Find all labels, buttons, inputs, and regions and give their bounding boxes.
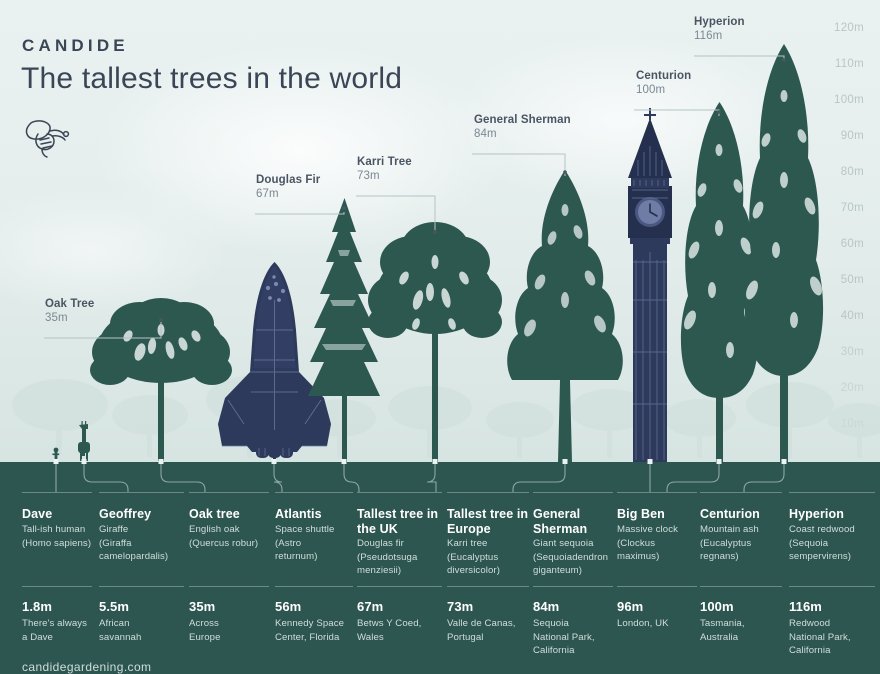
legend-item-description: Giraffe (Giraffa camelopardalis): [99, 523, 184, 564]
figure-dave-human: [52, 448, 59, 461]
legend-item-name: Hyperion: [789, 507, 875, 522]
legend-item-location: There's always a Dave: [22, 617, 92, 644]
legend-item-height: 5.5m: [99, 599, 184, 614]
legend-item-name: Big Ben: [617, 507, 697, 522]
infographic-root: CANDIDE The tallest trees in the world c…: [0, 0, 880, 674]
legend-item-description: Massive clock (Clockus maximus): [617, 523, 697, 564]
legend-divider-top: [533, 492, 613, 493]
axis-tick: 50m: [841, 274, 864, 286]
legend-item-height: 67m: [357, 599, 442, 614]
callout-height: 35m: [45, 311, 94, 327]
legend-divider-bottom: [22, 586, 92, 587]
legend-divider-top: [275, 492, 353, 493]
legend-item-height: 35m: [189, 599, 269, 614]
figure-centurion-tree: [681, 102, 758, 462]
legend-item-location: Betws Y Coed, Wales: [357, 617, 442, 644]
height-axis: 120m 110m 100m 90m 80m 70m 60m 50m 40m 3…: [812, 0, 872, 462]
legend-item-height: 100m: [700, 599, 782, 614]
legend-divider-bottom: [447, 586, 529, 587]
legend-item-name: Dave: [22, 507, 92, 522]
figure-big-ben: [628, 108, 672, 462]
legend-divider-bottom: [533, 586, 613, 587]
figure-karri-tree: [368, 222, 502, 462]
legend-item-location: Across Europe: [189, 617, 269, 644]
axis-tick: 120m: [834, 22, 864, 34]
axis-tick: 60m: [841, 238, 864, 250]
legend-divider-top: [22, 492, 92, 493]
callout-height: 116m: [694, 29, 745, 45]
legend-item-description: Mountain ash (Eucalyptus regnans): [700, 523, 782, 564]
callout-centurion: Centurion 100m: [636, 70, 691, 99]
legend-item-location: London, UK: [617, 617, 697, 631]
axis-tick: 110m: [835, 58, 864, 70]
callout-height: 84m: [474, 127, 571, 143]
axis-tick: 100m: [834, 94, 864, 106]
legend-divider-bottom: [789, 586, 875, 587]
bee-icon: [22, 118, 74, 163]
legend-item-description: English oak (Quercus robur): [189, 523, 269, 550]
legend-item-description: Douglas fir (Pseudotsuga menziesii): [357, 537, 442, 578]
callout-oak-tree: Oak Tree 35m: [45, 298, 94, 327]
callout-douglas-fir: Douglas Fir 67m: [256, 174, 320, 203]
legend-panel: DaveTall-ish human (Homo sapiens)1.8mThe…: [0, 462, 880, 674]
axis-tick: 70m: [841, 202, 864, 214]
legend-item-location: Kennedy Space Center, Florida: [275, 617, 353, 644]
callout-name: Karri Tree: [357, 156, 412, 169]
legend-item-height: 84m: [533, 599, 613, 614]
callout-height: 73m: [357, 169, 412, 185]
legend-divider-top: [99, 492, 184, 493]
figure-general-sherman: [507, 170, 623, 462]
legend-item-height: 96m: [617, 599, 697, 614]
legend-item-name: General Sherman: [533, 507, 613, 537]
axis-tick: 30m: [841, 346, 864, 358]
legend-divider-top: [789, 492, 875, 493]
legend-item-description: Karri tree (Eucalyptus diversicolor): [447, 537, 529, 578]
legend-divider-top: [357, 492, 442, 493]
legend-item-description: Space shuttle (Astro returnum): [275, 523, 353, 564]
callout-name: Centurion: [636, 70, 691, 83]
legend-item-height: 56m: [275, 599, 353, 614]
legend-item-description: Giant sequoia (Sequoiadendron giganteum): [533, 537, 613, 578]
legend-item-location: Redwood National Park, California: [789, 617, 875, 658]
legend-item-location: Valle de Canas, Portugal: [447, 617, 529, 644]
legend-item-location: African savannah: [99, 617, 184, 644]
figure-geoffrey-giraffe: [78, 421, 90, 461]
legend-divider-bottom: [99, 586, 184, 587]
axis-tick: 40m: [841, 310, 864, 322]
legend-item-name: Atlantis: [275, 507, 353, 522]
legend-divider-top: [700, 492, 782, 493]
callout-general-sherman: General Sherman 84m: [474, 114, 571, 143]
brand-logo: CANDIDE: [22, 36, 129, 56]
legend-item-name: Tallest tree in Europe: [447, 507, 529, 537]
legend-divider-bottom: [700, 586, 782, 587]
axis-tick: 10m: [841, 418, 864, 430]
callout-name: Douglas Fir: [256, 174, 320, 187]
callout-karri-tree: Karri Tree 73m: [357, 156, 412, 185]
legend-divider-bottom: [617, 586, 697, 587]
legend-item-location: Tasmania, Australia: [700, 617, 782, 644]
legend-divider-top: [617, 492, 697, 493]
legend-item-name: Geoffrey: [99, 507, 184, 522]
legend-item-name: Oak tree: [189, 507, 269, 522]
callout-height: 67m: [256, 187, 320, 203]
axis-tick: 20m: [841, 382, 864, 394]
legend-divider-top: [447, 492, 529, 493]
legend-divider-top: [189, 492, 269, 493]
legend-item-description: Coast redwood (Sequoia sempervirens): [789, 523, 875, 564]
callout-name: General Sherman: [474, 114, 571, 127]
page-title: The tallest trees in the world: [21, 62, 402, 96]
legend-item-height: 1.8m: [22, 599, 92, 614]
axis-tick: 90m: [841, 130, 864, 142]
legend-item-description: Tall-ish human (Homo sapiens): [22, 523, 92, 550]
callout-height: 100m: [636, 83, 691, 99]
legend-item-location: Sequoia National Park, California: [533, 617, 613, 658]
callout-name: Hyperion: [694, 16, 745, 29]
legend-divider-bottom: [357, 586, 442, 587]
legend-divider-bottom: [189, 586, 269, 587]
callout-name: Oak Tree: [45, 298, 94, 311]
legend-item-height: 116m: [789, 599, 875, 614]
axis-tick: 80m: [841, 166, 864, 178]
legend-item-name: Tallest tree in the UK: [357, 507, 442, 537]
callout-hyperion: Hyperion 116m: [694, 16, 745, 45]
legend-divider-bottom: [275, 586, 353, 587]
legend-item-height: 73m: [447, 599, 529, 614]
legend-item-name: Centurion: [700, 507, 782, 522]
